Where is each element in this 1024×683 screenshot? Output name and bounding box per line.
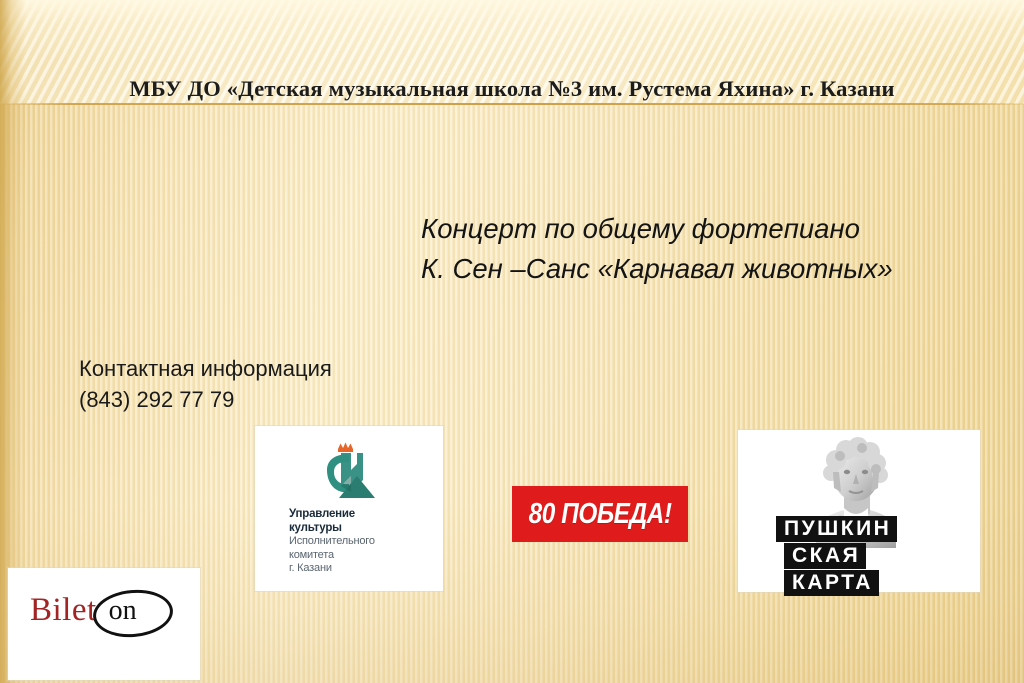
culture-line-5: г. Казани	[289, 562, 439, 576]
school-title: МБУ ДО «Детская музыкальная школа №3 им.…	[0, 76, 1024, 102]
logo-80-pobeda[interactable]: 80 ПОБЕДА!	[512, 486, 688, 542]
contact-phone: (843) 292 77 79	[79, 384, 332, 415]
presentation-slide: МБУ ДО «Детская музыкальная школа №3 им.…	[0, 0, 1024, 683]
pushkin-card-wordmark: ПУШКИН СКАЯ КАРТА	[776, 516, 956, 597]
bilet-on-circle-group: on	[93, 587, 171, 633]
culture-text-block: Управление культуры Исполнительного коми…	[289, 508, 439, 576]
header-divider	[0, 103, 1024, 105]
culture-emblem-icon	[305, 440, 391, 506]
culture-line-4: комитета	[289, 549, 439, 563]
concert-title-line-2: К. Сен –Санс «Карнавал животных»	[421, 249, 981, 289]
contact-information: Контактная информация (843) 292 77 79	[79, 353, 332, 415]
concert-announcement: Концерт по общему фортепиано К. Сен –Сан…	[421, 209, 981, 289]
logo-pushkinskaya-karta[interactable]: ПУШКИН СКАЯ КАРТА	[738, 430, 980, 592]
pushkin-row-2: СКАЯ	[784, 543, 866, 569]
concert-title-line-1: Концерт по общему фортепиано	[421, 209, 981, 249]
culture-line-1: Управление	[289, 508, 439, 522]
pushkin-row-1: ПУШКИН	[776, 516, 897, 542]
culture-line-2: культуры	[289, 522, 439, 536]
pushkin-row-3: КАРТА	[784, 570, 879, 596]
pobeda-text: 80 ПОБЕДА!	[529, 498, 672, 531]
contact-label: Контактная информация	[79, 353, 332, 384]
bilet-on-suffix: on	[109, 595, 137, 627]
logo-upravlenie-kultury[interactable]: Управление культуры Исполнительного коми…	[255, 426, 443, 591]
culture-line-3: Исполнительного	[289, 535, 439, 549]
bilet-on-lockup: Bilet on	[30, 584, 190, 636]
logo-bilet-on[interactable]: Bilet on	[8, 568, 200, 680]
bilet-on-wordmark: Bilet	[30, 592, 97, 629]
